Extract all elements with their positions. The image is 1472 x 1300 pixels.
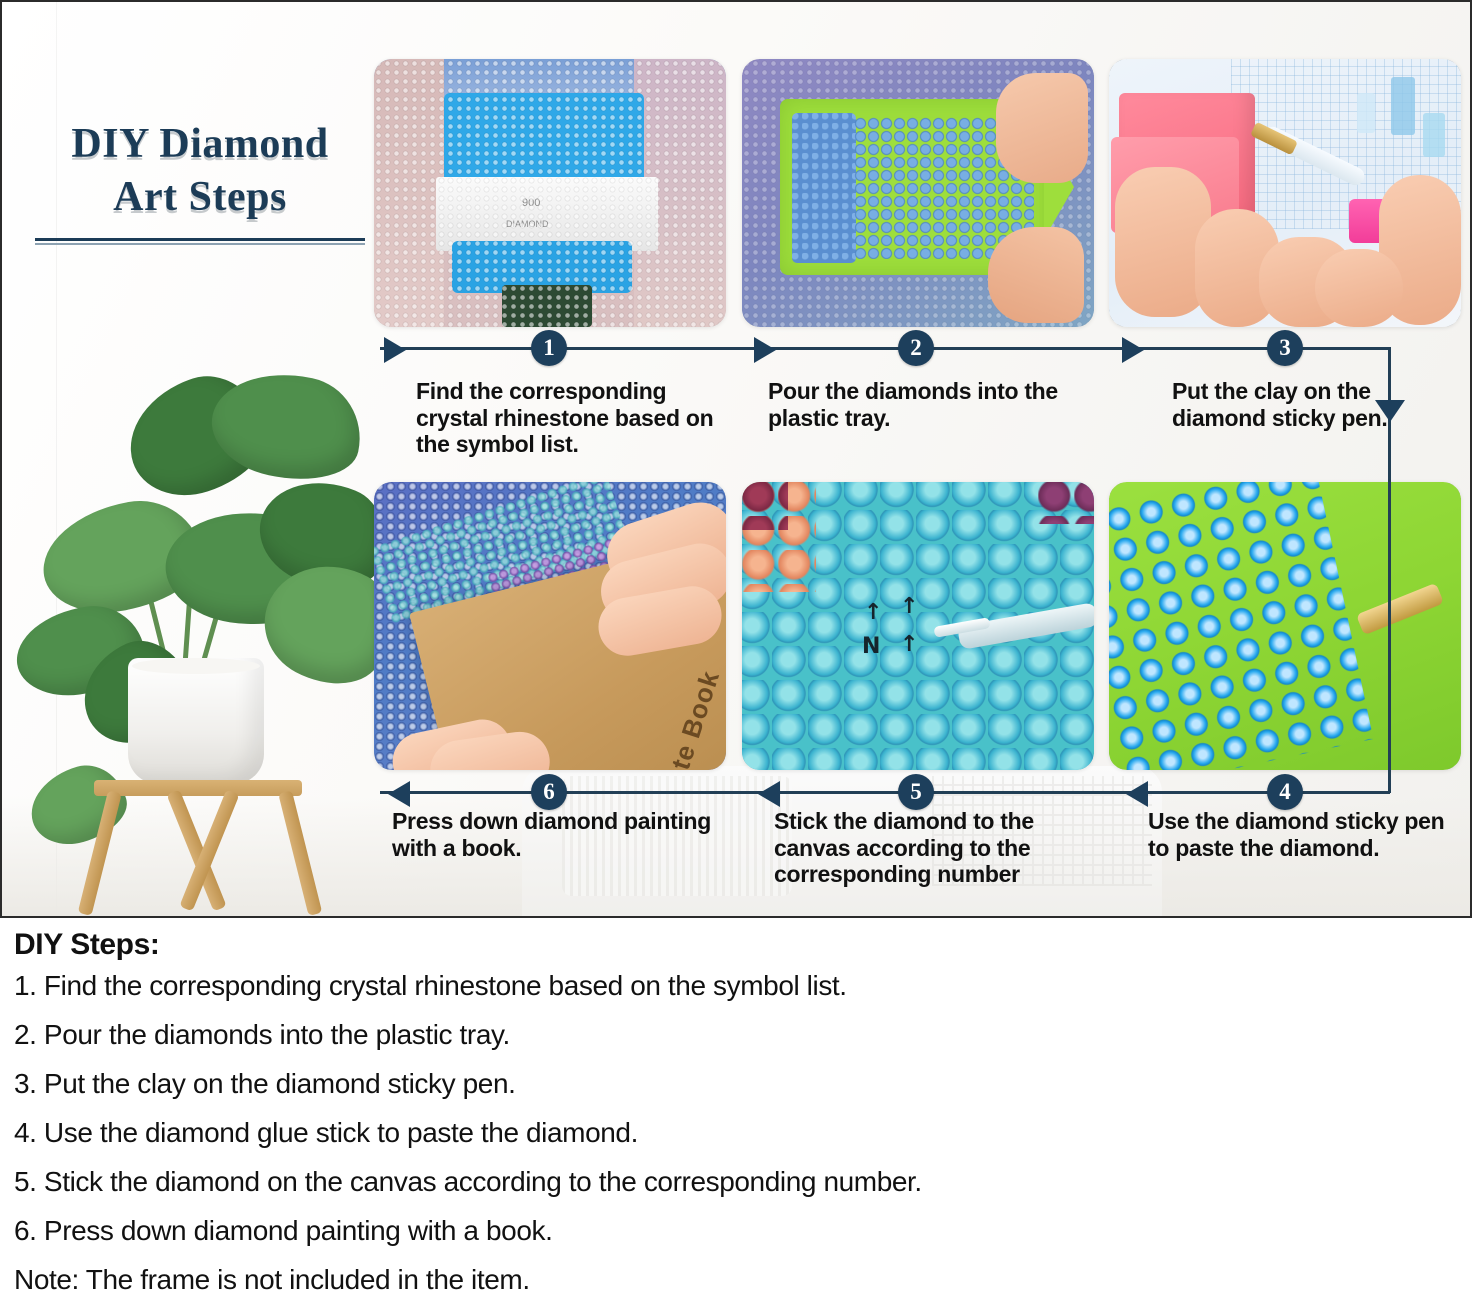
page-title: DIY Diamond Art Steps bbox=[30, 118, 370, 245]
title-line-1: DIY Diamond bbox=[30, 118, 370, 171]
plant-pot bbox=[128, 658, 264, 784]
step-caption-2: Pour the diamonds into the plastic tray. bbox=[768, 378, 1088, 431]
flow-arrow-right bbox=[1122, 337, 1144, 363]
diy-step-item: 1. Find the corresponding crystal rhines… bbox=[14, 970, 1458, 1002]
diy-diamond-art-instruction-sheet: DIY Diamond Art Steps bbox=[0, 0, 1472, 1300]
flow-arrow-left bbox=[1126, 781, 1148, 807]
step-photo-5: ↑ ↑ N ↑ bbox=[742, 482, 1094, 770]
diy-steps-list: DIY Steps: 1. Find the corresponding cry… bbox=[0, 920, 1472, 1300]
diy-step-item: 2. Pour the diamonds into the plastic tr… bbox=[14, 1019, 1458, 1051]
stool-seat bbox=[94, 780, 302, 796]
notebook-label: Note Book bbox=[654, 667, 726, 770]
title-line-2: Art Steps bbox=[30, 171, 370, 224]
canvas-symbol: ↑ bbox=[900, 594, 918, 619]
step-photo-4 bbox=[1109, 482, 1461, 770]
step-photo-3 bbox=[1109, 59, 1461, 327]
step-number-badge-6: 6 bbox=[531, 774, 567, 810]
step-number-badge-3: 3 bbox=[1267, 330, 1303, 366]
step-number-badge-2: 2 bbox=[898, 330, 934, 366]
flow-arrow-left bbox=[388, 781, 410, 807]
diy-step-item: 6. Press down diamond painting with a bo… bbox=[14, 1215, 1458, 1247]
diy-step-item: 4. Use the diamond glue stick to paste t… bbox=[14, 1117, 1458, 1149]
step-photo-6: Note Book bbox=[374, 482, 726, 770]
flow-connector-right bbox=[1388, 480, 1391, 793]
step-caption-5: Stick the diamond to the canvas accordin… bbox=[774, 808, 1074, 888]
stool-leg bbox=[278, 790, 322, 916]
step-photo-2 bbox=[742, 59, 1094, 327]
step-photo-1: 900 DIAMOND bbox=[374, 59, 726, 327]
step-number-badge-5: 5 bbox=[898, 774, 934, 810]
step-number-badge-4: 4 bbox=[1267, 774, 1303, 810]
step-caption-6: Press down diamond painting with a book. bbox=[392, 808, 732, 861]
step-caption-1: Find the corresponding crystal rhineston… bbox=[416, 378, 736, 458]
flow-arrow-right bbox=[754, 337, 776, 363]
diy-step-item: 5. Stick the diamond on the canvas accor… bbox=[14, 1166, 1458, 1198]
diy-step-item: 3. Put the clay on the diamond sticky pe… bbox=[14, 1068, 1458, 1100]
step-caption-4: Use the diamond sticky pen to paste the … bbox=[1148, 808, 1460, 861]
canvas-symbol: N bbox=[862, 634, 880, 659]
step-caption-3: Put the clay on the diamond sticky pen. bbox=[1172, 378, 1440, 431]
canvas-symbol: ↑ bbox=[864, 600, 882, 625]
flow-arrow-left bbox=[758, 781, 780, 807]
infographic-panel: DIY Diamond Art Steps bbox=[0, 0, 1472, 918]
diy-steps-heading: DIY Steps: bbox=[14, 928, 1458, 962]
diy-step-note: Note: The frame is not included in the i… bbox=[14, 1264, 1458, 1296]
monstera-plant-photo bbox=[16, 362, 376, 918]
step-number-badge-1: 1 bbox=[531, 330, 567, 366]
canvas-symbol: ↑ bbox=[900, 632, 918, 657]
flow-arrow-right bbox=[384, 337, 406, 363]
title-underline bbox=[35, 238, 365, 245]
